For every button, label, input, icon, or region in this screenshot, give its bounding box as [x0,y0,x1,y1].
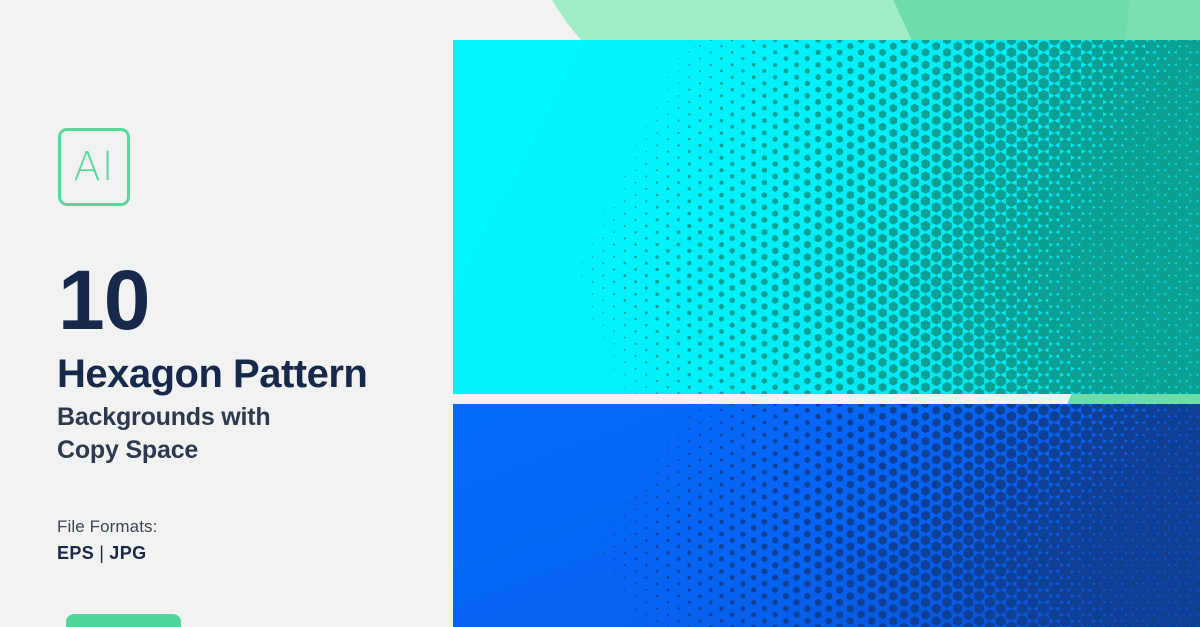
preview-card-cyan[interactable] [453,40,1200,394]
format-eps: EPS [57,543,94,563]
page-subtitle: Backgrounds with Copy Space [57,401,271,466]
format-separator: | [94,543,109,563]
format-jpg: JPG [109,543,146,563]
adobe-illustrator-badge-icon: AI [58,128,130,206]
file-formats-label: File Formats: [57,515,157,540]
page-title: Hexagon Pattern [57,354,367,394]
preview-banner: AI 10 Hexagon Pattern Backgrounds with C… [0,0,1200,627]
subtitle-line-2: Copy Space [57,434,271,467]
cta-button[interactable] [66,614,181,627]
preview-card-blue[interactable] [453,404,1200,627]
file-formats-value: EPS|JPG [57,540,157,566]
badge-label: AI [61,147,127,187]
pack-count: 10 [58,258,149,342]
file-formats: File Formats: EPS|JPG [57,515,157,566]
info-panel: AI 10 Hexagon Pattern Backgrounds with C… [0,0,453,627]
subtitle-line-1: Backgrounds with [57,401,271,434]
